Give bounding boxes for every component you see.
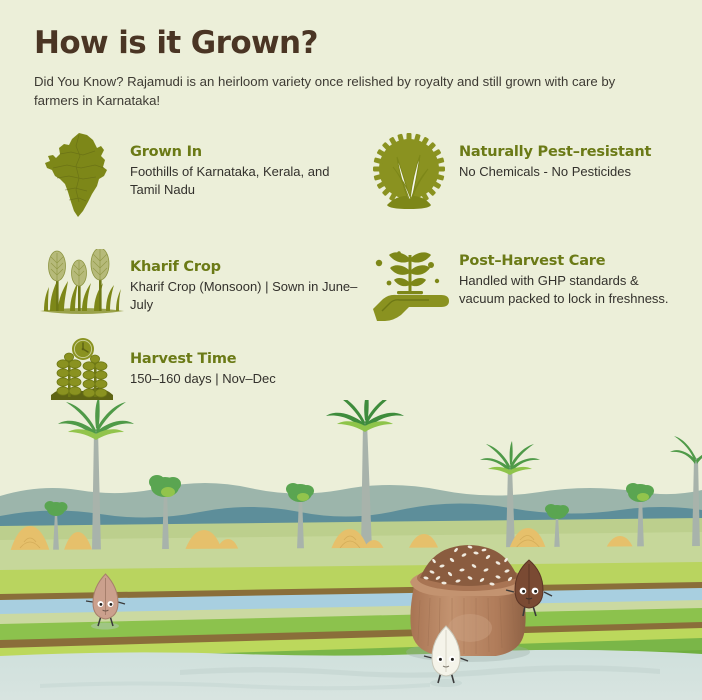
feature-row-2: Kharif Crop Kharif Crop (Monsoon) | Sown… [34,245,680,333]
feature-body: Foothills of Karnataka, Kerala, and Tami… [130,163,363,200]
feature-body: No Chemicals - No Pesticides [459,163,651,181]
feature-pest-resistant: Naturally Pest–resistant No Chemicals - … [363,132,680,245]
feature-text: Harvest Time 150–160 days | Nov–Dec [130,333,276,388]
page-title: How is it Grown? [34,26,674,60]
feature-text: Kharif Crop Kharif Crop (Monsoon) | Sown… [130,245,363,315]
feature-post-harvest-care: Post–Harvest Care Handled with GHP stand… [363,245,680,333]
feature-kharif-crop: Kharif Crop Kharif Crop (Monsoon) | Sown… [34,245,363,333]
india-south-map-icon [34,132,130,218]
mascot-shadow [430,679,462,687]
feature-body: Kharif Crop (Monsoon) | Sown in June–Jul… [130,278,363,315]
infographic-page: How is it Grown? Did You Know? Rajamudi … [0,0,702,700]
feature-row-1: Grown In Foothills of Karnataka, Kerala,… [34,132,680,245]
page-subtitle: Did You Know? Rajamudi is an heirloom va… [34,72,634,110]
feature-body: Handled with GHP standards & vacuum pack… [459,272,680,309]
feature-heading: Post–Harvest Care [459,253,680,269]
header: How is it Grown? Did You Know? Rajamudi … [34,26,674,110]
feature-heading: Naturally Pest–resistant [459,144,651,160]
feature-text: Grown In Foothills of Karnataka, Kerala,… [130,132,363,200]
mascot-shadow [91,623,119,630]
scene-svg [0,400,702,700]
hand-holding-sprout-icon [363,245,459,325]
feature-grown-in: Grown In Foothills of Karnataka, Kerala,… [34,132,363,245]
feature-heading: Grown In [130,144,363,160]
plant-gear-pest-resistant-icon [363,132,459,218]
feature-heading: Kharif Crop [130,259,363,275]
wheat-field-icon [34,245,130,325]
feature-body: 150–160 days | Nov–Dec [130,370,276,388]
feature-text: Post–Harvest Care Handled with GHP stand… [459,245,680,309]
landscape-illustration [0,400,702,700]
feature-text: Naturally Pest–resistant No Chemicals - … [459,132,651,181]
feature-heading: Harvest Time [130,351,276,367]
feature-grid: Grown In Foothills of Karnataka, Kerala,… [34,132,680,413]
